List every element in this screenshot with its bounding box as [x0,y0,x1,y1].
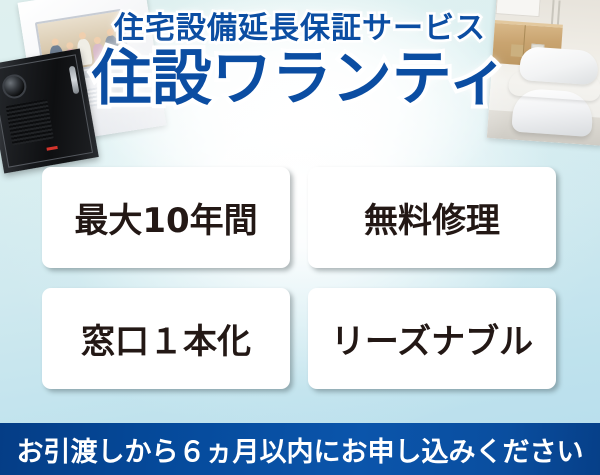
feature-label: 窓口１本化 [81,314,251,363]
banner-title: 住設ワランティ [0,48,600,111]
feature-box-1[interactable]: 最大10年間 [42,167,290,268]
promo-banner: 住宅設備延長保証サービス 住設ワランティ 最大10年間 無料修理 窓口１本化 リ… [0,0,600,475]
feature-label: リーズナブル [331,314,533,363]
cta-text: お引渡しから６ヵ月以内にお申し込みください [17,430,584,469]
headline-block: 住宅設備延長保証サービス 住設ワランティ [0,14,600,111]
feature-grid: 最大10年間 無料修理 窓口１本化 リーズナブル [42,167,556,389]
feature-box-3[interactable]: 窓口１本化 [42,288,290,389]
feature-label: 無料修理 [364,193,500,242]
feature-box-2[interactable]: 無料修理 [308,167,556,268]
feature-box-4[interactable]: リーズナブル [308,288,556,389]
banner-subtitle: 住宅設備延長保証サービス [0,14,600,44]
feature-label: 最大10年間 [74,193,257,242]
cta-bar[interactable]: お引渡しから６ヵ月以内にお申し込みください [0,423,600,475]
